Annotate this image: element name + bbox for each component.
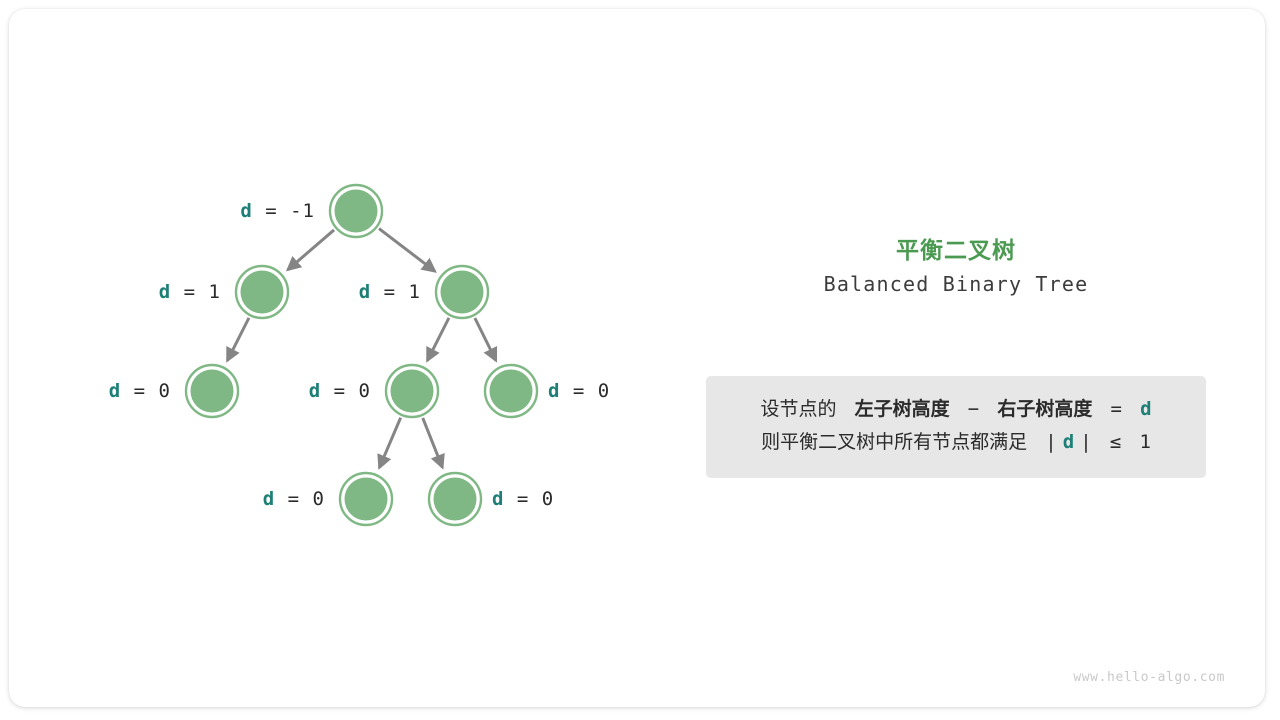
def2-d: d [1063,431,1074,453]
tree-node [485,365,537,417]
tree-node [236,266,288,318]
balance-var-d: d [240,200,252,222]
tree-node-balance-label: d = -1 [240,200,315,222]
tree-node-balance-label: d = 0 [492,488,554,510]
panel-title-en: Balanced Binary Tree [706,272,1206,296]
tree-edge [288,230,334,270]
balance-var-d: d [359,281,371,303]
tree-node-balance-label: d = 0 [548,380,610,402]
tree-node-balance-label: d = 1 [359,281,421,303]
def1-minus: − [968,398,979,420]
tree-node [340,473,392,525]
tree-edge [227,318,249,361]
balance-value: = 0 [560,380,610,402]
tree-edge [379,229,435,272]
balance-var-d: d [263,488,275,510]
balance-value: = 0 [121,380,171,402]
tree-edges [227,229,496,468]
tree-edge [379,418,400,468]
balance-var-d: d [548,380,560,402]
def2-abs-close: | [1080,431,1091,453]
def2-one: 1 [1139,431,1150,453]
panel-title-zh: 平衡二叉树 [706,231,1206,265]
content-card: d = -1d = 1d = 1d = 0d = 0d = 0d = 0d = … [9,9,1265,707]
tree-node [386,365,438,417]
def2-leq: ≤ [1110,431,1121,453]
binary-tree-diagram: d = -1d = 1d = 1d = 0d = 0d = 0d = 0d = … [9,9,709,707]
balance-value: = 0 [321,380,371,402]
balance-value: = 1 [171,281,221,303]
balance-var-d: d [109,380,121,402]
balance-value: = -1 [253,200,315,222]
tree-edge [423,418,443,467]
balance-value: = 0 [504,488,554,510]
watermark-url: www.hello-algo.com [1073,670,1225,685]
tree-node-body [345,478,388,521]
tree-node-body [441,271,484,314]
tree-node-balance-label: d = 0 [109,380,171,402]
tree-node [330,185,382,237]
balance-var-d: d [492,488,504,510]
def1-left-height: 左子树高度 [855,398,950,420]
tree-node [436,266,488,318]
balance-value: = 0 [275,488,325,510]
definition-line-1: 设节点的 左子树高度 − 右子树高度 = d [706,393,1206,426]
def1-d: d [1140,398,1151,420]
tree-node-balance-label: d = 0 [263,488,325,510]
balance-var-d: d [309,380,321,402]
tree-nodes [186,185,537,525]
tree-node-balance-label: d = 1 [159,281,221,303]
def1-right-height: 右子树高度 [997,398,1092,420]
def2-part1: 则平衡二叉树中所有节点都满足 [761,431,1027,453]
balance-var-d: d [159,281,171,303]
tree-node-body [434,478,477,521]
tree-edge [475,318,496,361]
balance-value: = 1 [371,281,421,303]
tree-node-body [241,271,284,314]
tree-node-body [335,190,378,233]
tree-edge [427,318,449,361]
tree-node [429,473,481,525]
definition-box: 设节点的 左子树高度 − 右子树高度 = d 则平衡二叉树中所有节点都满足 | [706,376,1206,478]
def2-abs-open: | [1045,431,1056,453]
tree-node-body [490,370,533,413]
def1-part1: 设节点的 [760,398,836,420]
tree-svg [9,9,709,707]
tree-node-body [191,370,234,413]
definition-line-2: 则平衡二叉树中所有节点都满足 | d | ≤ 1 [706,426,1206,459]
tree-node-body [391,370,434,413]
tree-node-balance-label: d = 0 [309,380,371,402]
tree-node [186,365,238,417]
info-panel: 平衡二叉树 Balanced Binary Tree 设节点的 左子树高度 − … [706,9,1266,707]
def1-equals: = [1111,398,1122,420]
screenshot-root: d = -1d = 1d = 1d = 0d = 0d = 0d = 0d = … [0,0,1280,720]
